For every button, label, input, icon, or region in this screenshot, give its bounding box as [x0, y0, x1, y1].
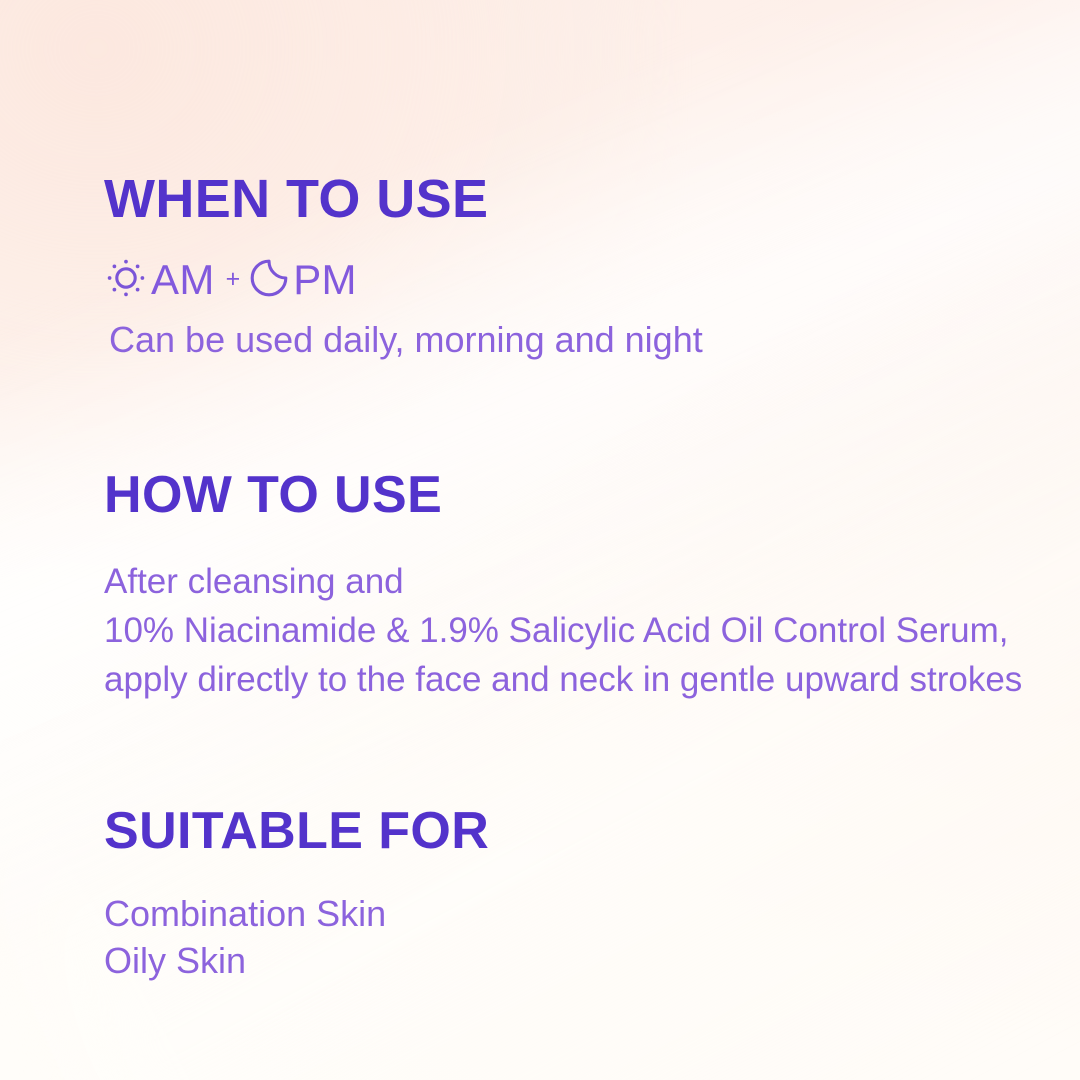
suitable-for-item: Oily Skin: [104, 937, 1020, 984]
product-info-card: WHEN TO USE AM +: [0, 0, 1080, 1080]
section-how-to-use: HOW TO USE After cleansing and 10% Niaci…: [104, 363, 1020, 704]
sun-icon: [104, 256, 148, 305]
am-pm-separator: +: [226, 267, 241, 292]
suitable-for-body: Combination Skin Oily Skin: [104, 890, 1020, 984]
pm-label: PM: [293, 259, 357, 301]
am-pm-row: AM + PM: [104, 257, 1020, 303]
suitable-for-heading: SUITABLE FOR: [104, 805, 1020, 857]
how-to-use-body: After cleansing and 10% Niacinamide & 1.…: [104, 557, 1020, 704]
how-to-use-line: After cleansing and: [104, 557, 1020, 606]
section-suitable-for: SUITABLE FOR Combination Skin Oily Skin: [104, 704, 1020, 984]
when-to-use-heading: WHEN TO USE: [104, 172, 1020, 226]
moon-icon: [249, 258, 289, 303]
how-to-use-line: apply directly to the face and neck in g…: [104, 655, 1020, 704]
suitable-for-item: Combination Skin: [104, 890, 1020, 937]
card-content: WHEN TO USE AM +: [0, 0, 1080, 984]
am-label: AM: [151, 259, 215, 301]
how-to-use-heading: HOW TO USE: [104, 469, 1020, 521]
how-to-use-line: 10% Niacinamide & 1.9% Salicylic Acid Oi…: [104, 606, 1020, 655]
section-when-to-use: WHEN TO USE AM +: [104, 0, 1020, 363]
when-to-use-subtext: Can be used daily, morning and night: [109, 316, 1020, 363]
